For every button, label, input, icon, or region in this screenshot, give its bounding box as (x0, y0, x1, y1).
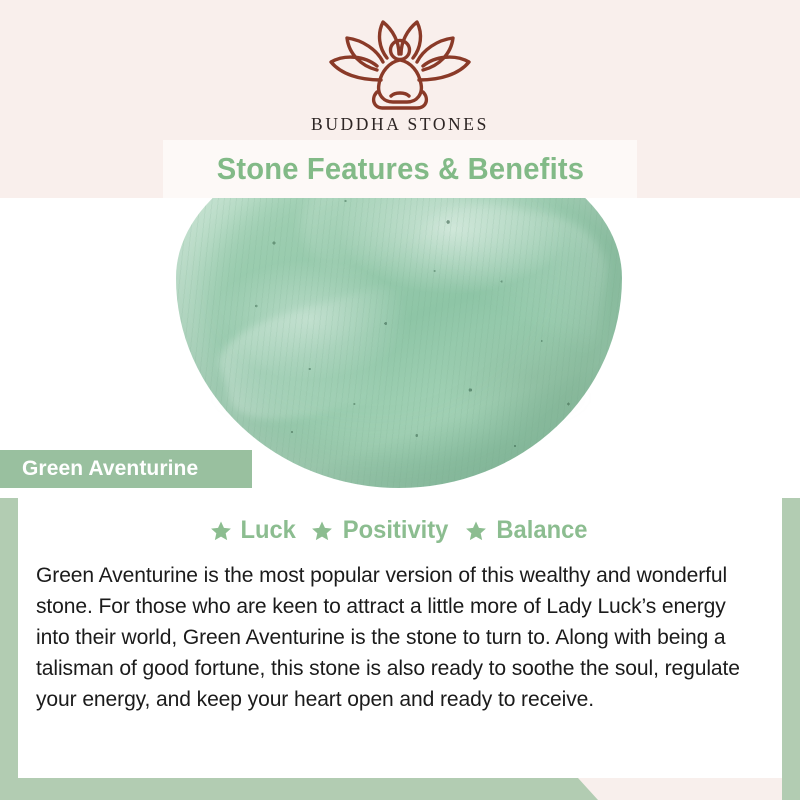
stone-name-band: Green Aventurine (0, 450, 252, 488)
benefit-item-luck: Luck (210, 516, 297, 545)
benefit-item-positivity: Positivity (311, 516, 451, 545)
description-text: Green Aventurine is the most popular ver… (36, 559, 746, 714)
frame-bottom-bar (0, 778, 598, 800)
benefits-row: Luck Positivity Balance (18, 498, 782, 545)
brand-block: BUDDHA STONES (0, 18, 800, 135)
brand-name: BUDDHA STONES (0, 114, 800, 135)
star-icon (465, 520, 487, 542)
lotus-meditation-icon (319, 18, 481, 112)
page-title: Stone Features & Benefits (216, 151, 583, 187)
star-icon (311, 520, 333, 542)
title-banner: Stone Features & Benefits (163, 140, 637, 198)
benefit-label: Positivity (343, 516, 449, 545)
content-panel: Luck Positivity Balance Green (18, 498, 782, 778)
benefit-item-balance: Balance (465, 516, 590, 545)
star-icon (210, 520, 232, 542)
poster-canvas: BUDDHA STONES Stone Features & Benefits … (0, 0, 800, 800)
stone-body (176, 198, 622, 488)
benefit-label: Luck (240, 516, 295, 545)
stone-speckle-texture (176, 198, 622, 488)
stone-image (176, 198, 622, 488)
benefit-label: Balance (497, 516, 588, 545)
stone-name-label: Green Aventurine (22, 457, 198, 481)
